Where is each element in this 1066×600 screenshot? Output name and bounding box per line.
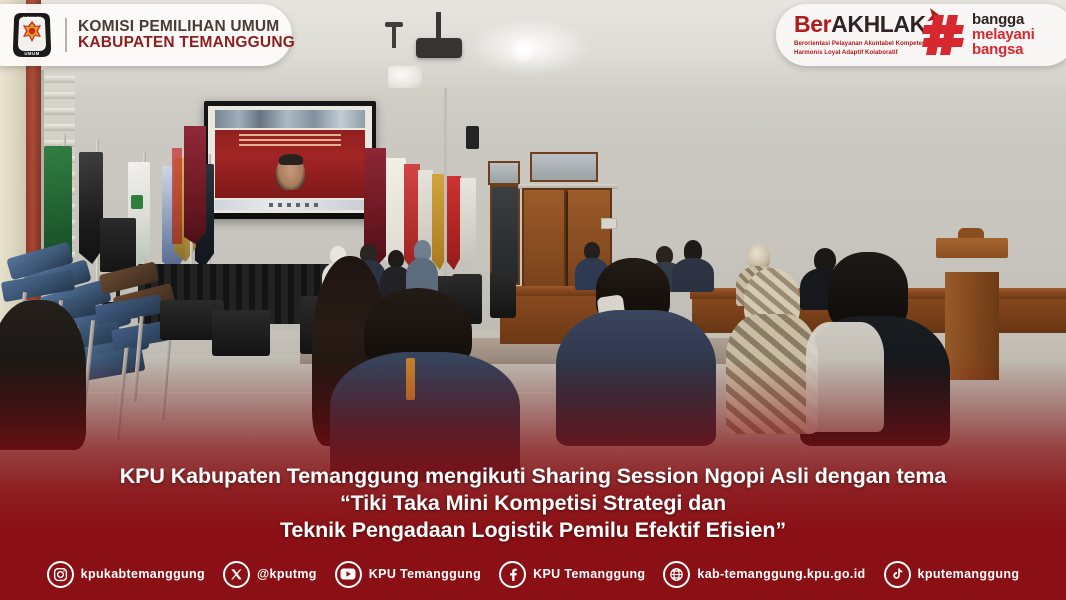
berakhlak-prefix: Ber [794, 11, 831, 37]
instagram-icon[interactable] [47, 561, 74, 588]
video-call-toolbar [215, 200, 366, 210]
kpu-badge-text: KOMISI PEMILIHAN UMUM KABUPATEN TEMANGGU… [78, 19, 295, 52]
hashtag-icon [922, 13, 968, 57]
speaker-webcam-face [276, 157, 305, 190]
globe-website-icon[interactable] [663, 561, 690, 588]
ceiling-projector-icon [416, 38, 462, 58]
caption-line-1: KPU Kabupaten Temanggung mengikuti Shari… [28, 463, 1038, 490]
video-call-main-tile [215, 130, 366, 198]
social-x-twitter[interactable]: @kputmg [223, 561, 317, 588]
svg-text:UMUM: UMUM [24, 51, 39, 56]
projection-screen-surface [208, 106, 372, 213]
social-website[interactable]: kab-temanggung.kpu.go.id [663, 561, 865, 588]
flag-red-small [172, 148, 182, 244]
badge-divider [65, 18, 67, 52]
social-facebook[interactable]: KPU Temanggung [499, 561, 645, 588]
wall-mounted-speaker [466, 126, 479, 149]
tagline-line-3: bangsa [972, 42, 1035, 57]
bangga-melayani-bangsa-wordmark: bangga melayani bangsa [972, 12, 1035, 57]
kpu-identity-badge: KOMISI UMUM KOMISI PEMILIHAN UMUM KABUPA… [0, 4, 292, 66]
x-twitter-icon[interactable] [223, 561, 250, 588]
svg-text:KOMISI: KOMISI [23, 16, 41, 21]
wall-switch-plate [601, 218, 617, 229]
tagline-line-1: bangga [972, 12, 1035, 27]
berakhlak-sub-line-1: Berorientasi Pelayanan Akuntabel Kompete… [794, 40, 926, 47]
social-instagram-label: kpukabtemanggung [81, 567, 205, 581]
slide-title-text-block [239, 134, 342, 149]
berakhlak-subtitle: Berorientasi Pelayanan Akuntabel Kompete… [794, 40, 934, 57]
berakhlak-wordmark: BerAKHLAK ➤ Berorientasi Pelayanan Akunt… [794, 13, 934, 57]
poster-caption: KPU Kabupaten Temanggung mengikuti Shari… [0, 463, 1066, 544]
door-dark-opening [490, 185, 520, 285]
social-youtube[interactable]: KPU Temanggung [335, 561, 481, 588]
social-youtube-label: KPU Temanggung [369, 567, 481, 581]
projector-mount-rod [392, 26, 396, 48]
facebook-icon[interactable] [499, 561, 526, 588]
loudspeaker-on-stand [100, 218, 136, 272]
berakhlak-badge: BerAKHLAK ➤ Berorientasi Pelayanan Akunt… [776, 4, 1066, 66]
tiktok-icon[interactable] [884, 561, 911, 588]
kpu-badge-line-2: KABUPATEN TEMANGGUNG [78, 35, 295, 51]
flag-white-emblem [131, 195, 143, 209]
door-transom-window-left [488, 161, 520, 185]
berakhlak-word: BerAKHLAK ➤ [794, 13, 934, 36]
podium-top [936, 238, 1008, 258]
social-media-poster: KPU Kabupaten Temanggung mengikuti Shari… [0, 0, 1066, 600]
social-tiktok-label: kputemanggung [918, 567, 1020, 581]
door-transom-window-right [530, 152, 598, 182]
berakhlak-main: AKHLAK [831, 11, 926, 37]
berakhlak-sub-line-2: Harmonis Loyal Adaptif Kolaboratif [794, 49, 898, 56]
kpu-garuda-logo-icon: KOMISI UMUM [8, 10, 56, 60]
banner-maroon-left [184, 126, 206, 244]
ceiling-lamp [388, 66, 422, 88]
projection-screen [204, 101, 376, 219]
social-instagram[interactable]: kpukabtemanggung [47, 561, 205, 588]
kpu-badge-line-1: KOMISI PEMILIHAN UMUM [78, 19, 295, 35]
video-call-thumbnail-strip [215, 110, 366, 128]
social-website-label: kab-temanggung.kpu.go.id [697, 567, 865, 581]
black-chair [212, 310, 270, 356]
caption-line-2: “Tiki Taka Mini Kompetisi Strategi dan [28, 490, 1038, 517]
flag-red-2 [446, 176, 461, 270]
youtube-icon[interactable] [335, 561, 362, 588]
social-media-footer: kpukabtemanggung @kputmg KPU Temanggung [0, 548, 1066, 600]
tagline-line-2: melayani [972, 27, 1035, 42]
caption-line-3: Teknik Pengadaan Logistik Pemilu Efektif… [28, 517, 1038, 544]
ceiling-light-glare [510, 38, 536, 64]
social-x-label: @kputmg [257, 567, 317, 581]
social-tiktok[interactable]: kputemanggung [884, 561, 1020, 588]
social-facebook-label: KPU Temanggung [533, 567, 645, 581]
black-chair [490, 272, 516, 318]
wall-conduit-pipe [444, 88, 447, 284]
flag-white-3 [460, 178, 476, 272]
